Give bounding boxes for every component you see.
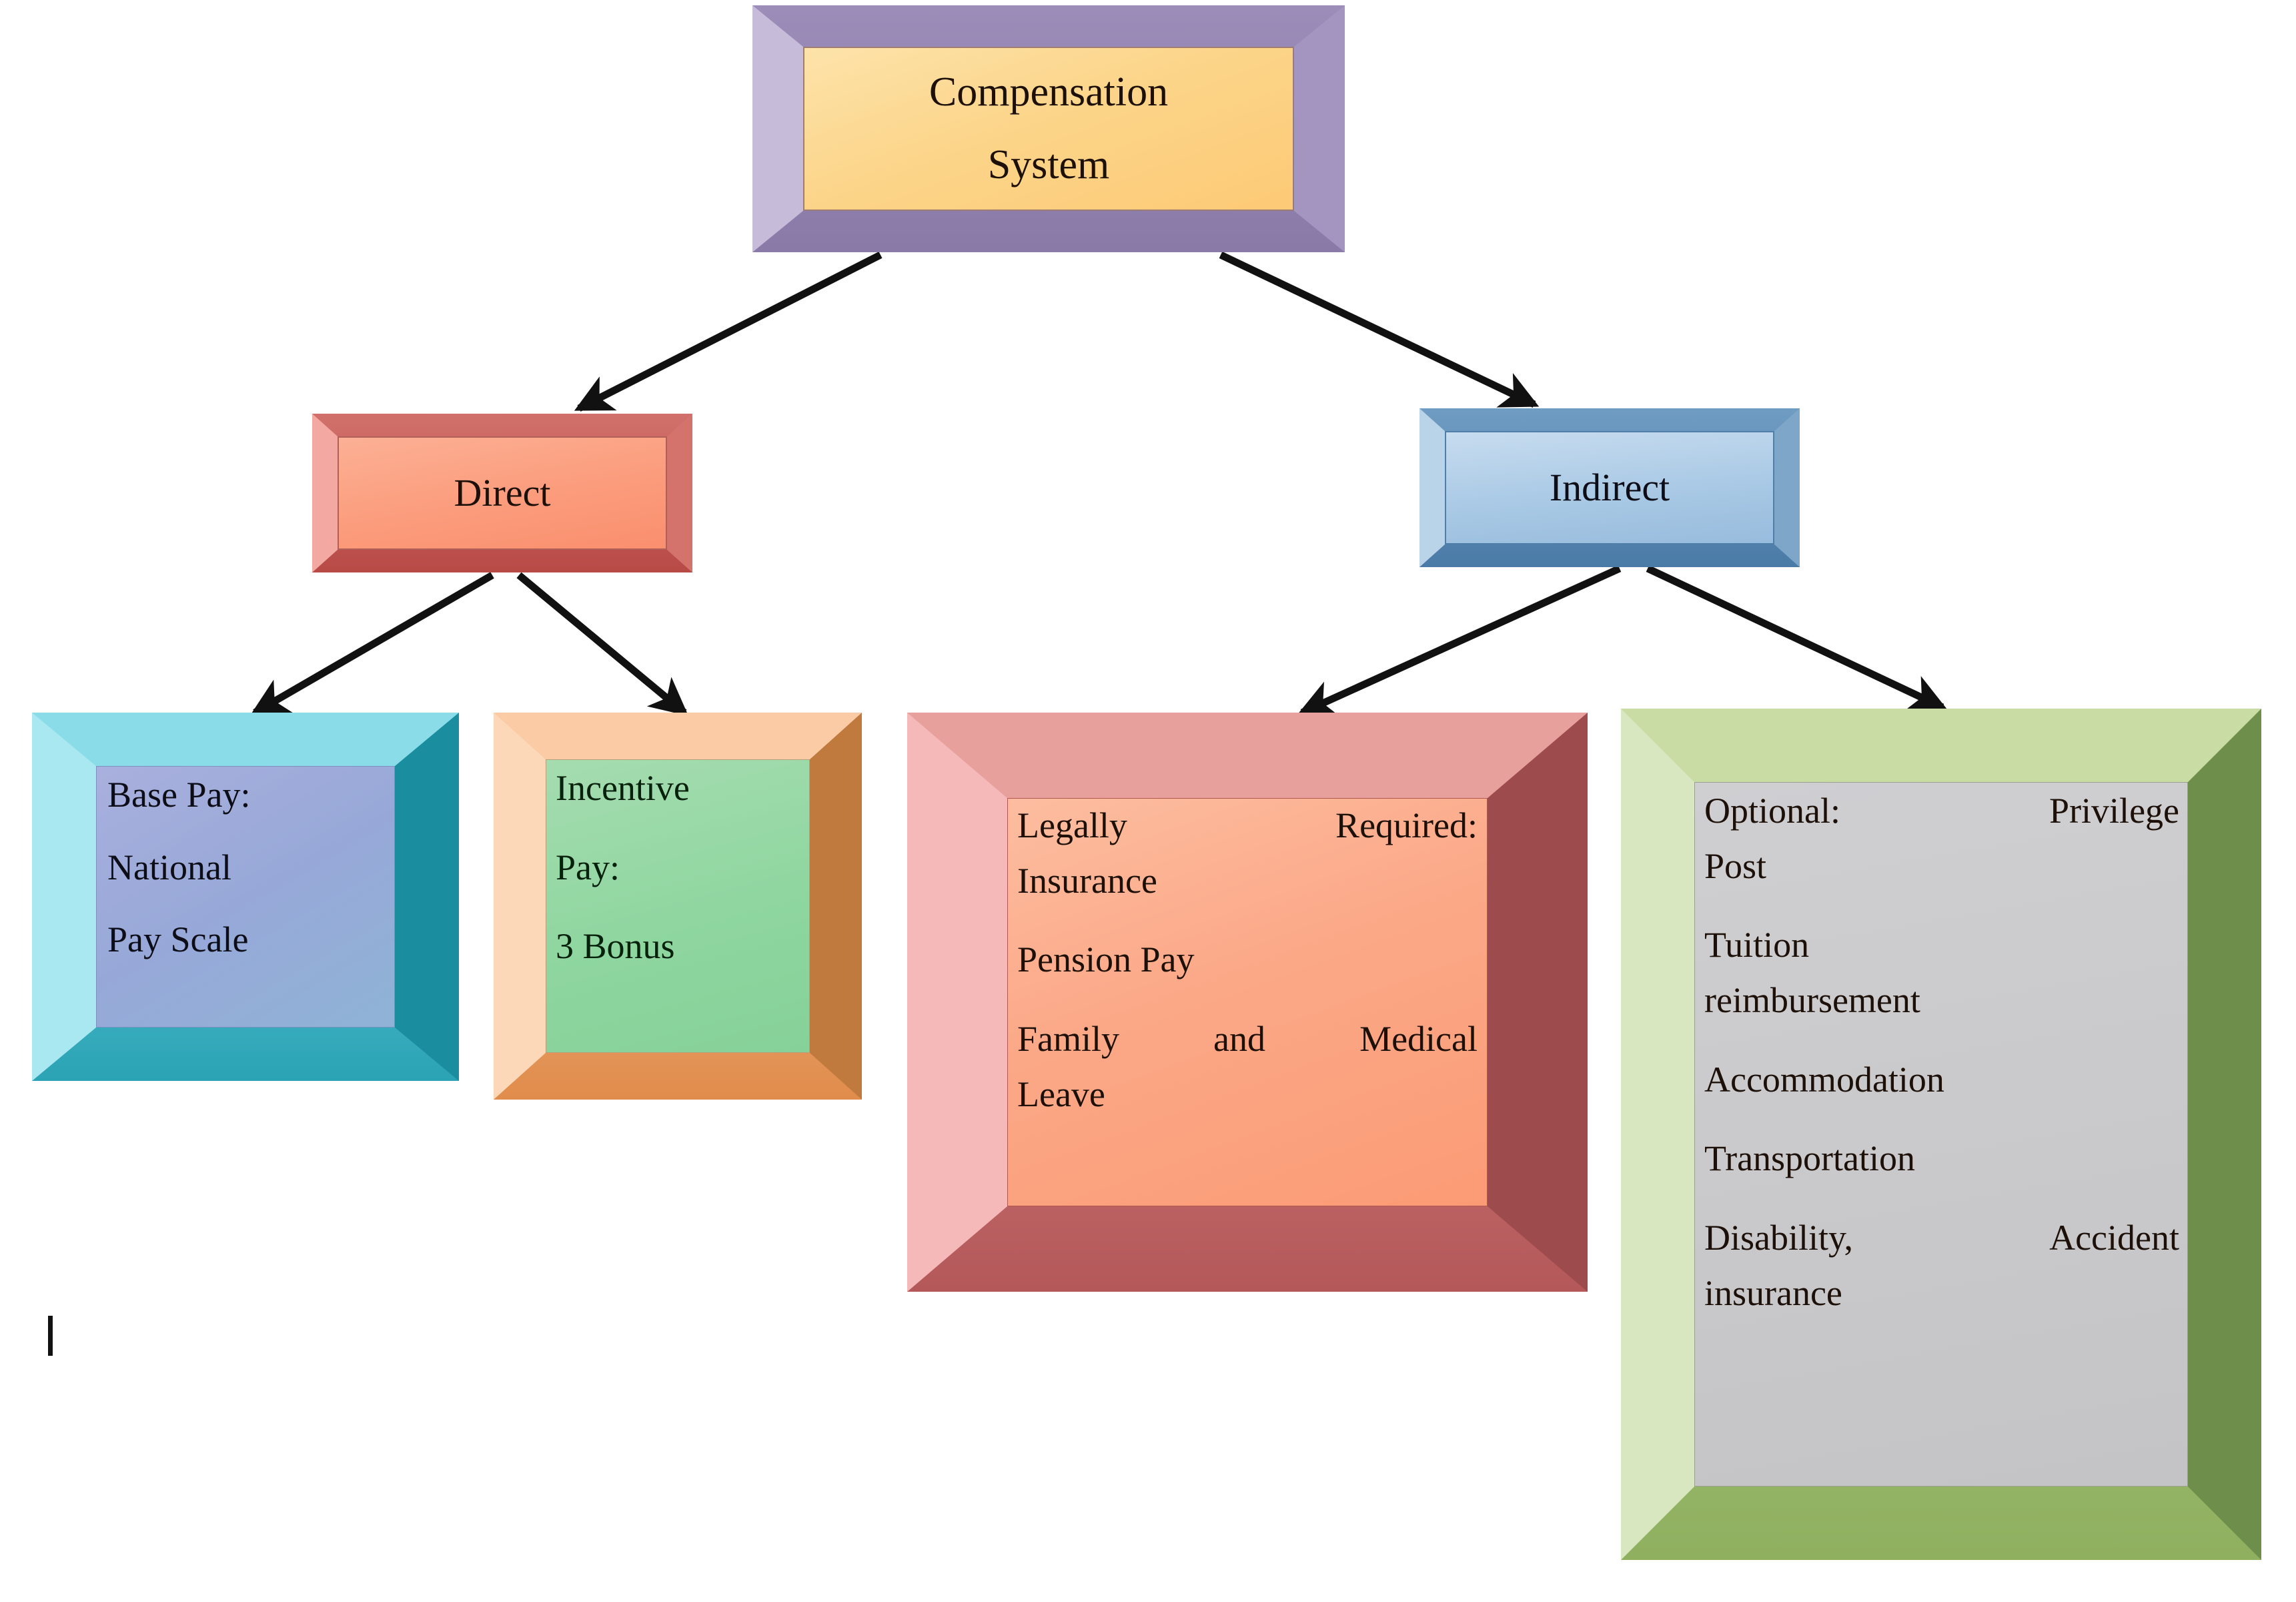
node-line: National bbox=[107, 849, 394, 887]
node-line: System bbox=[988, 143, 1110, 187]
node-line: reimbursement bbox=[1704, 981, 2179, 1020]
node-line: Disability, Accident bbox=[1704, 1219, 2179, 1257]
text-caret bbox=[48, 1316, 53, 1356]
node-compensation-system[interactable]: Compensation System bbox=[752, 5, 1345, 252]
node-line: Family and Medical bbox=[1017, 1020, 1478, 1058]
diagram-canvas: Compensation System Direct Indirect B bbox=[0, 0, 2296, 1602]
node-optional-privilege[interactable]: Optional: Privilege Post Tuition reimbur… bbox=[1621, 709, 2261, 1560]
node-label: Indirect bbox=[1550, 468, 1670, 508]
node-line: 3 Bonus bbox=[556, 927, 809, 965]
connector-direct-to-base-pay bbox=[255, 575, 492, 713]
node-indirect[interactable]: Indirect bbox=[1419, 408, 1800, 567]
node-line: Optional: Privilege bbox=[1704, 792, 2179, 830]
node-legally-required[interactable]: Legally Required: Insurance Pension Pay … bbox=[907, 713, 1588, 1292]
node-line: Pension Pay bbox=[1017, 941, 1478, 979]
node-line: Transportation bbox=[1704, 1140, 2179, 1178]
node-inner-panel: Incentive Pay: 3 Bonus bbox=[546, 759, 810, 1053]
node-label: Direct bbox=[454, 473, 551, 514]
node-direct[interactable]: Direct bbox=[312, 414, 692, 572]
node-line: Base Pay: bbox=[107, 776, 394, 814]
node-base-pay[interactable]: Base Pay: National Pay Scale bbox=[32, 713, 459, 1081]
node-incentive-pay[interactable]: Incentive Pay: 3 Bonus bbox=[494, 713, 862, 1100]
node-inner-panel: Direct bbox=[338, 436, 667, 550]
node-line: Legally Required: bbox=[1017, 807, 1478, 845]
node-line: Compensation bbox=[929, 71, 1168, 114]
node-line: Leave bbox=[1017, 1076, 1478, 1114]
node-line: Insurance bbox=[1017, 862, 1478, 900]
node-line: Pay: bbox=[556, 849, 809, 887]
connector-indirect-to-optional bbox=[1648, 568, 1942, 707]
connector-indirect-to-legally-required bbox=[1302, 568, 1620, 713]
connector-comp-to-direct bbox=[579, 255, 881, 408]
node-line: insurance bbox=[1704, 1274, 2179, 1312]
connector-comp-to-indirect bbox=[1221, 255, 1534, 404]
node-inner-panel: Indirect bbox=[1445, 431, 1774, 544]
node-line: Post bbox=[1704, 847, 2179, 885]
node-line: Tuition bbox=[1704, 926, 2179, 964]
connector-direct-to-incentive-pay bbox=[519, 575, 684, 713]
node-line: Pay Scale bbox=[107, 921, 394, 959]
node-inner-panel: Compensation System bbox=[803, 47, 1294, 211]
node-inner-panel: Optional: Privilege Post Tuition reimbur… bbox=[1694, 782, 2188, 1487]
node-line: Incentive bbox=[556, 769, 809, 807]
node-line: Accommodation bbox=[1704, 1061, 2179, 1099]
node-inner-panel: Base Pay: National Pay Scale bbox=[96, 766, 395, 1028]
node-inner-panel: Legally Required: Insurance Pension Pay … bbox=[1007, 798, 1488, 1206]
